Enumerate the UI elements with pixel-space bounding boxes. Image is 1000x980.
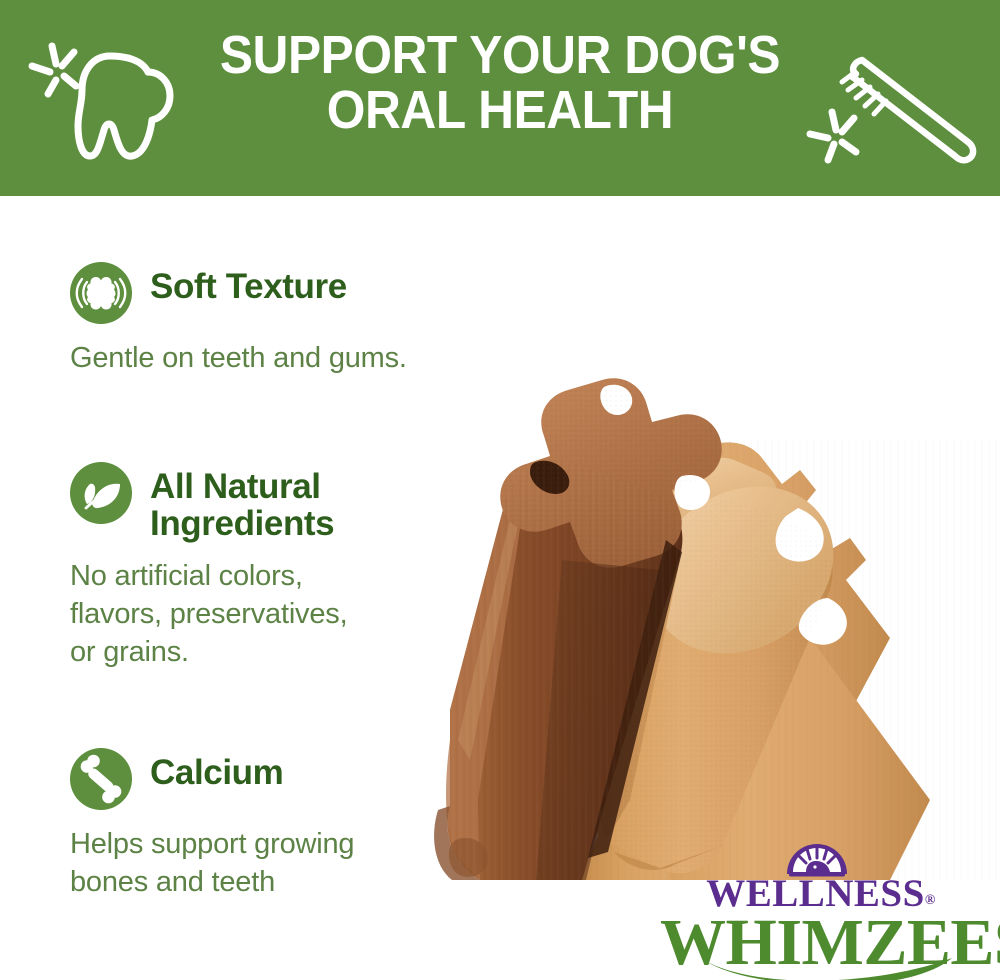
feature-calcium: Calcium Helps support growing bones and … — [70, 748, 470, 901]
feature-header: Calcium — [70, 748, 470, 810]
header-banner: SUPPORT YOUR DOG'S ORAL HEALTH — [0, 0, 1000, 196]
feature-body: No artificial colors, flavors, preservat… — [70, 558, 470, 671]
light-chew — [580, 440, 1000, 880]
leaf-icon — [70, 462, 132, 524]
feature-all-natural-ingredients: All Natural Ingredients No artificial co… — [70, 462, 470, 671]
feature-title: Soft Texture — [150, 262, 347, 305]
banner-title-line2: ORAL HEALTH — [178, 83, 822, 138]
tooth-sparkle-icon — [22, 30, 182, 170]
bone-icon — [70, 748, 132, 810]
feature-body: Gentle on teeth and gums. — [70, 340, 470, 378]
feature-body-line: Gentle on teeth and gums. — [70, 340, 470, 378]
feature-title-line1: All Natural — [150, 467, 321, 506]
feature-title-line1: Soft Texture — [150, 267, 347, 306]
dark-chew-top-face — [500, 378, 721, 567]
feature-body-line: flavors, preservatives, — [70, 596, 470, 634]
feature-body-line: bones and teeth — [70, 864, 470, 902]
light-chew-shape — [582, 453, 865, 873]
feature-soft-texture: Soft Texture Gentle on teeth and gums. — [70, 262, 470, 378]
dark-chew — [434, 378, 722, 880]
logo-swoosh — [698, 956, 958, 980]
feature-body-line: No artificial colors, — [70, 558, 470, 596]
product-feature-poster: SUPPORT YOUR DOG'S ORAL HEALTH — [0, 0, 1000, 980]
feature-body-line: or grains. — [70, 634, 470, 672]
feature-header: All Natural Ingredients — [70, 462, 470, 542]
brand-logo: WELLNESS® WHIMZEES® — [660, 836, 1000, 978]
toothbrush-sparkle-icon — [792, 38, 984, 190]
feature-title-line2: Ingredients — [150, 505, 334, 542]
feature-body-line: Helps support growing — [70, 826, 470, 864]
feature-header: Soft Texture — [70, 262, 470, 324]
feature-title: Calcium — [150, 748, 283, 791]
banner-title: SUPPORT YOUR DOG'S ORAL HEALTH — [178, 28, 822, 138]
feature-title: All Natural Ingredients — [150, 462, 334, 542]
soft-chew-icon — [70, 262, 132, 324]
feature-body: Helps support growing bones and teeth — [70, 826, 470, 901]
banner-title-line1: SUPPORT YOUR DOG'S — [220, 25, 780, 85]
feature-title-line1: Calcium — [150, 753, 283, 792]
